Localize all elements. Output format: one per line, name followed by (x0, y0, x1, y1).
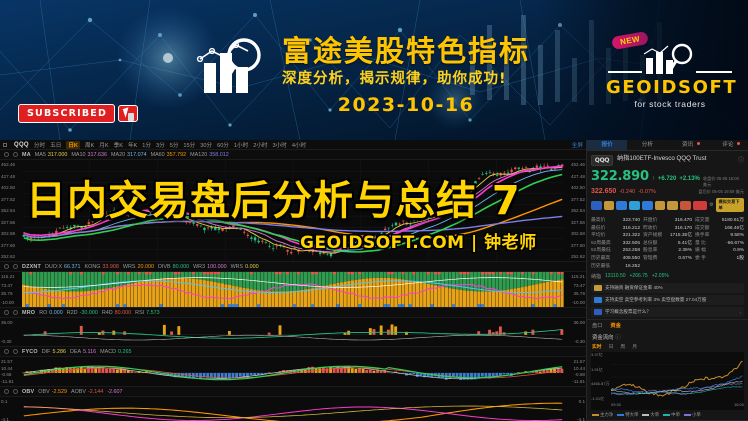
stat-cell: 振 幅0.9% (695, 247, 744, 255)
stat-key: 历史最高 (591, 255, 610, 263)
period-week[interactable]: 周 (620, 343, 625, 350)
capital-period-tabs[interactable]: 实时 日 周 月 (587, 342, 748, 352)
more-button[interactable] (693, 201, 707, 210)
tab-quote[interactable]: 报价 (587, 140, 627, 150)
legend-label: 中单 (671, 412, 680, 417)
stat-key: 换手率 (695, 232, 709, 240)
dzxnt-k1: KONG (85, 264, 101, 270)
hero-date: 2023-10-16 (282, 94, 530, 116)
period-realtime[interactable]: 实时 (592, 343, 602, 350)
eye-icon[interactable] (13, 349, 18, 354)
axis-tick: 10.44 (565, 366, 585, 371)
quote-change: +6.720 (658, 176, 677, 182)
mro-axis-left: 36.00 -0.30 (0, 318, 22, 346)
stat-value: 253.258 (623, 247, 640, 255)
dzxnt-k4: WR3 (193, 264, 205, 270)
fyco-k0: DIF (42, 349, 51, 355)
stat-value: 1股 (737, 255, 744, 263)
axis-tick: 21.57 (1, 359, 21, 364)
index-value: 13110.50 (605, 273, 625, 280)
quote-session-label: 收盘价 05-05 16:00 美元 (703, 176, 744, 188)
eye-icon[interactable] (13, 264, 18, 269)
axis-tick: -4.1 (1, 417, 21, 421)
stat-value: 166.46亿 (725, 225, 744, 233)
stat-key: 成交额 (695, 225, 709, 233)
mro-v0: 0.000 (49, 310, 63, 316)
tf-8[interactable]: 3分 (156, 141, 165, 149)
indicator-name-mro: MRO (22, 310, 35, 316)
after-change-pct: -0.07% (638, 189, 656, 195)
flow-y-axis: 3.37亿 1.91亿 4466.87万 -1.01亿 (591, 352, 611, 402)
axis-tick: -0.68 (565, 372, 585, 377)
period-day[interactable]: 日 (609, 343, 614, 350)
stat-cell: 历史最高408.550 (591, 255, 640, 263)
hero-title: 富途美股特色指标 (282, 34, 530, 68)
dzxnt-axis-left: 115.21 73.47 35.76 -10.00 (0, 272, 22, 307)
stat-cell: 平均价321.322 (591, 232, 640, 240)
axis-tick: -11.81 (565, 379, 585, 384)
legend-item: 主力净 (592, 412, 613, 418)
stat-cell: 最低价316.212 (591, 225, 640, 233)
axis-tick: 35.76 (1, 291, 21, 296)
tab-orderbook[interactable]: 盘口 (592, 322, 602, 329)
quote-price-row: 322.890 ↑ +6.720 +2.13% 收盘价 05-05 16:00 … (587, 168, 748, 188)
fyco-v2: 0.265 (118, 349, 132, 355)
axis-tick: 21.57 (565, 359, 585, 364)
hero-text-block: 富途美股特色指标 深度分析，揭示规律，助你成功! 2023-10-16 (282, 34, 530, 116)
overlay-title: 日内交易盘后分析与总结 7 (26, 168, 521, 226)
timeframe-bar[interactable]: QQQ 分时 五日 日K 周K 月K 季K 年K 1分 3分 5分 15分 30… (0, 140, 586, 150)
axis-tick: 73.47 (1, 283, 21, 288)
stat-key: 振 幅 (695, 247, 706, 255)
after-session-label: 盘后价 05-05 19:59 美元 (698, 189, 744, 195)
stat-cell: 52周最高332.505 (591, 240, 640, 248)
stat-cell: 管理费0.67% (643, 255, 692, 263)
tf-4[interactable]: 月K (99, 141, 108, 149)
quote-price: 322.890 (591, 169, 649, 184)
tab-analysis[interactable]: 分析 (627, 140, 667, 150)
tf-16[interactable]: 4小时 (292, 141, 306, 149)
obv-v0: -2.529 (52, 389, 67, 395)
axis-tick: 115.21 (1, 274, 21, 279)
ma60-val: 357.792 (167, 152, 187, 158)
axis-tick: 377.52 (565, 197, 585, 202)
stat-cell: 成交额166.46亿 (695, 225, 744, 233)
fyco-panel[interactable]: 21.57 10.44 -0.68 -11.81 21.57 10.44 -0.… (0, 357, 586, 387)
tf-1[interactable]: 五日 (50, 141, 61, 149)
after-price: 322.650 (591, 188, 616, 195)
gear-icon[interactable] (4, 389, 9, 394)
obv-k1: AOBV (71, 389, 86, 395)
geoidsoft-name: GEOIDSOFT (606, 78, 734, 98)
concept-note-text: 学习概念股票是什么？ (605, 309, 651, 315)
axis-tick: 402.50 (565, 185, 585, 190)
screenshot-root: SUBSCRIBED 富途美股特色指标 (0, 0, 748, 421)
dzxnt-v3: 80.000 (173, 264, 190, 270)
indicator-name-obv: OBV (22, 389, 34, 395)
flow-plot[interactable] (611, 352, 744, 402)
capital-flow-title-text: 资金流向 (592, 335, 614, 341)
qqq-logo: QQQ (591, 155, 613, 166)
axis-tick: 302.58 (1, 231, 21, 236)
subscribed-label: SUBSCRIBED (18, 104, 115, 123)
stat-value: 5.41亿 (678, 240, 692, 248)
tab-capital[interactable]: 资金 (610, 322, 620, 329)
axis-tick: 327.56 (565, 220, 585, 225)
stat-cell (695, 263, 744, 271)
short-icon (594, 297, 602, 303)
stat-key: 股息率 (643, 247, 657, 255)
ma120-val: 358.012 (209, 152, 229, 158)
stat-key: 昨收价 (643, 225, 657, 233)
tab-comments-label: 评论 (722, 142, 733, 148)
indicator-name-ma: MA (22, 152, 31, 158)
mro-axis-right: 36.00 -0.30 (564, 318, 586, 346)
tab-news[interactable]: 资讯 (668, 140, 708, 150)
tf-12[interactable]: 60分 (217, 141, 229, 149)
mro-panel[interactable]: 36.00 -0.30 36.00 -0.30 (0, 318, 586, 347)
axis-tick: 352.54 (565, 208, 585, 213)
axis-tick: 36.00 (1, 320, 21, 325)
dzxnt-panel[interactable]: 115.21 73.47 35.76 -10.00 115.21 73.47 3… (0, 272, 586, 308)
ma5-key: MA5 (35, 152, 46, 158)
tf-10[interactable]: 15分 (183, 141, 195, 149)
tab-news-label: 资讯 (682, 142, 693, 148)
quote-header: QQQ 纳指100ETF-Invesco QQQ Trust ⓘ (587, 151, 748, 168)
tf-15[interactable]: 3小时 (273, 141, 287, 149)
indicator-name-dzxnt: DZXNT (22, 264, 41, 270)
axis-tick: 10.44 (1, 366, 21, 371)
ma20-key: MA20 (111, 152, 125, 158)
flow-x-axis: 09:30 16:00 (611, 402, 744, 410)
stat-cell: 总份额5.41亿 (643, 240, 692, 248)
mro-plot[interactable] (22, 318, 564, 346)
quote-statistics-table: 最高价323.740 开盘价316.470 成交量5180.61万 最低价316… (587, 215, 748, 272)
buy-button[interactable] (591, 201, 602, 210)
gear-icon[interactable] (4, 264, 9, 269)
stat-value: -66.67% (726, 240, 744, 248)
obv-plot[interactable] (22, 397, 564, 421)
stat-value: 332.505 (623, 240, 640, 248)
stat-key: 52周最高 (591, 240, 611, 248)
price-axis-right: 452.46 427.48 402.50 377.52 352.54 327.5… (564, 160, 586, 261)
legend-label: 大单 (650, 412, 659, 417)
axis-tick: 252.62 (565, 254, 585, 259)
axis-tick: -0.30 (1, 339, 21, 344)
stat-cell: 股息率2.39% (643, 247, 692, 255)
dzxnt-k3: DIVB (158, 264, 171, 270)
axis-tick: 09:30 (611, 402, 621, 410)
axis-tick: -10.00 (565, 300, 585, 305)
axis-tick: 377.52 (1, 197, 21, 202)
info-circle-icon[interactable]: ⓘ (615, 335, 620, 341)
stat-cell (643, 263, 692, 271)
ma10-val: 317.636 (87, 152, 107, 158)
stat-key: 委 手 (695, 255, 706, 263)
alert-button[interactable] (629, 201, 640, 210)
tf-0[interactable]: 分时 (34, 141, 45, 149)
stat-key: 平均价 (591, 232, 605, 240)
axis-tick: -11.81 (1, 379, 21, 384)
stat-cell: 最高价323.740 (591, 217, 640, 225)
index-change-pct: +2.05% (652, 273, 669, 280)
period-month[interactable]: 月 (632, 343, 637, 350)
short-note[interactable]: 支持卖空 卖空参考利率 3% 卖空盘数量 27.04万股 (591, 295, 744, 305)
axis-tick: -1.01亿 (591, 396, 611, 402)
stat-cell: 52周最低253.258 (591, 247, 640, 255)
stat-key: 52周最低 (591, 247, 611, 255)
subscribed-badge[interactable]: SUBSCRIBED (18, 104, 138, 123)
dzxnt-v4: 100.000 (207, 264, 227, 270)
question-icon (594, 309, 602, 315)
stat-value: 9.58% (730, 232, 744, 240)
obv-axis-right: 0.1 -4.1 (564, 397, 586, 421)
chevron-right-icon[interactable]: › (739, 310, 741, 315)
mro-k2: R4D (102, 310, 113, 316)
margin-icon (594, 285, 602, 291)
hero-subtitle: 深度分析，揭示规律，助你成功! (282, 69, 530, 89)
mro-k0: RO (39, 310, 47, 316)
axis-tick: 352.54 (1, 208, 21, 213)
gear-icon[interactable] (4, 310, 9, 315)
axis-tick: -0.30 (565, 339, 585, 344)
indicator-name-fyco: FYCO (22, 349, 38, 355)
quote-tabs[interactable]: 报价 分析 资讯 评论 (587, 140, 748, 151)
stat-cell: 资产规模1715.35亿 (643, 232, 692, 240)
mro-v2: 80.000 (115, 310, 132, 316)
fyco-k2: MACD (100, 349, 116, 355)
sell-button[interactable] (604, 201, 615, 210)
axis-tick: 4466.87万 (591, 381, 611, 387)
axis-tick: 3.37亿 (591, 352, 611, 358)
legend-item: 中单 (663, 412, 680, 418)
gear-icon[interactable] (4, 152, 9, 157)
overlay-subtitle: GEOIDSOFT.COM | 钟老师 (300, 228, 537, 253)
fullscreen-button[interactable]: 全屏 (572, 141, 583, 149)
quote-name: 纳指100ETF-Invesco QQQ Trust (617, 155, 706, 163)
options-button[interactable] (655, 201, 666, 210)
margin-note[interactable]: 支持融资 融资保证金率 40% (591, 283, 744, 293)
short-button[interactable] (667, 201, 678, 210)
obv-axis-left: 0.1 -4.1 (0, 397, 22, 421)
stat-key: 资产规模 (643, 232, 662, 240)
obv-k0: OBV (38, 389, 49, 395)
eye-icon[interactable] (13, 152, 18, 157)
info-circle-icon[interactable]: ⓘ (738, 155, 744, 164)
stat-cell: 委 手1股 (695, 255, 744, 263)
stat-value: 2.39% (678, 247, 692, 255)
after-change: -0.240 (619, 189, 635, 195)
axis-tick: -0.68 (1, 372, 21, 377)
arrow-up-icon: ↑ (652, 176, 655, 182)
fyco-plot[interactable] (22, 357, 564, 386)
axis-tick: 35.76 (565, 291, 585, 296)
gear-icon[interactable] (4, 349, 9, 354)
tf-11[interactable]: 30分 (200, 141, 212, 149)
mro-k3: RSI (135, 310, 144, 316)
stat-key: 最高价 (591, 217, 605, 225)
news-button[interactable] (680, 201, 691, 210)
geoidsoft-logo-icon (606, 40, 734, 78)
stat-value: 408.550 (623, 255, 640, 263)
stat-value: 0.67% (678, 255, 692, 263)
dzxnt-k2: WRS (123, 264, 136, 270)
dzxnt-v1: 33.908 (102, 264, 119, 270)
mro-k1: R2D (67, 310, 78, 316)
axis-tick: 402.50 (1, 185, 21, 190)
hero-banner: SUBSCRIBED 富途美股特色指标 (0, 0, 748, 140)
dzxnt-axis-right: 115.21 73.47 35.76 -10.00 (564, 272, 586, 307)
stat-value: 316.470 (675, 217, 692, 225)
mro-v3: 7.573 (146, 310, 160, 316)
stat-value: 5180.61万 (722, 217, 744, 225)
indicator-header-mro[interactable]: MRO RO0.000 R2D-30.000 R4D80.000 RSI7.57… (0, 308, 586, 318)
index-change: +266.75 (630, 273, 648, 280)
bar-chart-magnifier-icon (196, 37, 278, 99)
index-row: 纳指 13110.50 +266.75 +2.05% (587, 272, 748, 281)
short-note-text: 支持卖空 卖空参考利率 3% 卖空盘数量 27.04万股 (605, 297, 706, 303)
quote-after-row: 322.650 -0.240 -0.07% 盘后价 05-05 19:59 美元 (587, 188, 748, 195)
stat-key: 总份额 (643, 240, 657, 248)
obv-v2: -2.607 (107, 389, 122, 395)
flow-legend: 主力净 特大单 大单 中单 小单 (587, 410, 748, 420)
tf-2[interactable]: 日K (66, 141, 80, 149)
stat-key: 管理费 (643, 255, 657, 263)
axis-tick: -10.00 (1, 300, 21, 305)
margin-note-text: 支持融资 融资保证金率 40% (605, 285, 663, 291)
stat-cell: 开盘价316.470 (643, 217, 692, 225)
quote-pane: 报价 分析 资讯 评论 QQQ 纳指100ETF-Invesco QQQ Tru… (586, 140, 748, 421)
watch-button[interactable] (642, 201, 653, 210)
stat-key: 成交量 (695, 217, 709, 225)
tf-6[interactable]: 年K (128, 141, 137, 149)
legend-item: 小单 (684, 412, 701, 418)
tf-5[interactable]: 季K (114, 141, 123, 149)
dzxnt-k0: DUO:X (45, 264, 62, 270)
stat-key: 最低价 (591, 225, 605, 233)
axis-tick: 115.21 (565, 274, 585, 279)
ma60-key: MA60 (151, 152, 165, 158)
tf-9[interactable]: 5分 (170, 141, 179, 149)
fyco-axis-right: 21.57 10.44 -0.68 -11.81 (564, 357, 586, 386)
stat-value: 1715.35亿 (670, 232, 692, 240)
stat-cell: 量 比-66.67% (695, 240, 744, 248)
stat-key: 历史最低 (591, 263, 610, 271)
axis-tick: 73.47 (565, 283, 585, 288)
tf-3[interactable]: 周K (85, 141, 94, 149)
stat-cell: 换手率9.58% (695, 232, 744, 240)
chart-button[interactable] (616, 201, 627, 210)
legend-label: 特大单 (625, 412, 638, 417)
ma10-key: MA10 (71, 152, 85, 158)
obv-panel[interactable]: 0.1 -4.1 0.1 -4.1 (0, 397, 586, 421)
stat-key: 开盘价 (643, 217, 657, 225)
indicator-header-obv[interactable]: OBV OBV-2.529 AOBV-2.144 -2.607 (0, 387, 586, 397)
eye-icon[interactable] (13, 389, 18, 394)
stat-cell: 昨收价316.170 (643, 225, 692, 233)
legend-item: 大单 (642, 412, 659, 418)
fyco-v0: 5.286 (52, 349, 66, 355)
indicator-header-ma[interactable]: MA MA5317.000 MA10317.636 MA20317.074 MA… (0, 150, 586, 160)
price-axis-left: 452.46 427.48 402.50 377.52 352.54 327.5… (0, 160, 22, 261)
eye-icon[interactable] (13, 310, 18, 315)
tab-comments[interactable]: 评论 (708, 140, 748, 150)
dzxnt-v0: 66.371 (64, 264, 81, 270)
axis-tick: 327.56 (1, 220, 21, 225)
notification-dot-icon (737, 142, 740, 145)
axis-tick: 252.62 (1, 254, 21, 259)
tf-7[interactable]: 1分 (142, 141, 151, 149)
tf-13[interactable]: 1小时 (234, 141, 248, 149)
trade-button[interactable]: 模拟交易下单 (716, 198, 744, 212)
axis-tick: 452.46 (1, 162, 21, 167)
axis-tick: 16:00 (734, 402, 744, 410)
stat-cell: 历史最低16.252 (591, 263, 640, 271)
capital-flow-chart[interactable]: 3.37亿 1.91亿 4466.87万 -1.01亿 09:30 16:00 (591, 352, 744, 410)
dzxnt-plot[interactable] (22, 272, 564, 307)
axis-tick: 427.48 (565, 174, 585, 179)
geoidsoft-tagline: for stock traders (606, 99, 734, 109)
axis-tick: 277.60 (1, 243, 21, 248)
stat-value: 323.740 (623, 217, 640, 225)
stat-key: 量 比 (695, 240, 706, 248)
axis-tick: 0.1 (1, 399, 21, 404)
dzxnt-v5: 0.000 (245, 264, 259, 270)
concept-note[interactable]: 学习概念股票是什么？ › (591, 307, 744, 317)
notification-dot-icon (697, 142, 700, 145)
obv-v1: -2.144 (88, 389, 103, 395)
indicator-header-fyco[interactable]: FYCO DIF5.286 DEA5.116 MACD0.265 (0, 347, 586, 357)
hero-brand-block: 富途美股特色指标 深度分析，揭示规律，助你成功! 2023-10-16 (196, 34, 530, 116)
axis-tick: 1.91亿 (591, 367, 611, 373)
mro-v1: -30.000 (80, 310, 98, 316)
grid-menu-icon[interactable] (3, 143, 7, 147)
fyco-axis-left: 21.57 10.44 -0.68 -11.81 (0, 357, 22, 386)
geoidsoft-logo-block: NEW GEOIDSOFT for stock traders (606, 40, 734, 109)
capital-section-tabs[interactable]: 盘口 资金 (587, 319, 748, 331)
axis-tick: 36.00 (565, 320, 585, 325)
click-cursor-icon (118, 105, 138, 122)
legend-label: 主力净 (600, 412, 613, 417)
quote-change-pct: +2.13% (679, 176, 700, 182)
index-key: 纳指 (591, 273, 601, 280)
axis-tick: 452.46 (565, 162, 585, 167)
quote-action-buttons[interactable]: ⚙ 模拟交易下单 (587, 195, 748, 215)
indicator-header-dzxnt[interactable]: DZXNT DUO:X66.371 KONG33.908 WRS20.000 D… (0, 262, 586, 272)
capital-flow-title: 资金流向 ⓘ (587, 331, 748, 342)
fyco-v1: 5.116 (83, 349, 96, 355)
axis-tick: 302.58 (565, 231, 585, 236)
stat-cell: 成交量5180.61万 (695, 217, 744, 225)
axis-tick: -4.1 (565, 417, 585, 421)
stat-value: 316.170 (675, 225, 692, 233)
dzxnt-v2: 20.000 (138, 264, 155, 270)
stat-value: 321.322 (623, 232, 640, 240)
tf-14[interactable]: 2小时 (253, 141, 267, 149)
dzxnt-k5: WRS (231, 264, 244, 270)
ma5-val: 317.000 (48, 152, 68, 158)
chart-symbol: QQQ (14, 142, 29, 148)
ma20-val: 317.074 (127, 152, 147, 158)
fyco-k1: DEA (70, 349, 81, 355)
legend-label: 小单 (692, 412, 701, 417)
legend-item: 特大单 (617, 412, 638, 418)
stat-value: 0.9% (733, 247, 744, 255)
gear-icon[interactable]: ⚙ (709, 202, 713, 208)
axis-tick: 0.1 (565, 399, 585, 404)
ma120-key: MA120 (190, 152, 207, 158)
stat-value: 316.212 (623, 225, 640, 233)
